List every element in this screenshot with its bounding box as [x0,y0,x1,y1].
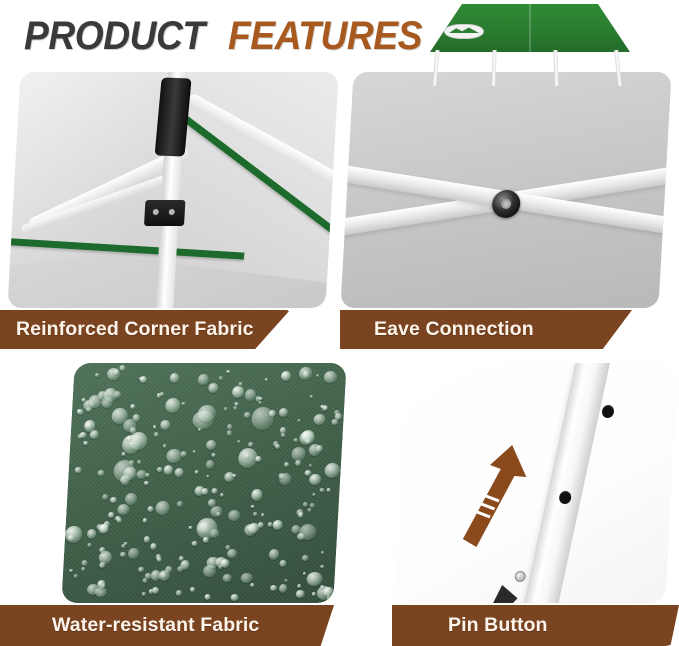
water-droplet [275,444,280,449]
water-droplet [259,397,263,401]
water-droplet [273,520,283,530]
water-droplet [95,373,100,377]
water-droplet [255,456,261,462]
pole-rivet-icon [514,571,526,582]
water-droplet [69,569,73,573]
water-droplet [232,386,245,398]
water-droplet [253,512,257,516]
water-droplet [119,365,126,371]
water-droplet [88,543,92,547]
water-droplet [261,513,265,516]
water-droplet [86,407,92,412]
water-droplet [323,587,334,597]
water-droplet [197,405,216,422]
water-droplet [302,555,309,561]
water-droplet [227,549,237,558]
water-droplet [175,468,184,477]
pin-hole-upper-icon [602,405,615,418]
water-droplet [178,556,183,561]
feature-image-water-resistant-fabric [61,363,346,603]
water-droplet [140,376,147,383]
water-droplet [123,467,137,480]
pole-foot-icon [491,585,518,603]
water-droplet [312,493,316,497]
water-droplet [177,566,184,573]
water-droplet [324,463,340,478]
water-droplet [153,432,159,438]
feature-label-text: Pin Button [448,614,548,637]
feature-image-eave-connection [340,72,671,308]
water-droplet [192,450,196,454]
feature-image-reinforced-corner-fabric [7,72,338,308]
water-droplet [166,449,182,462]
title-word-features: FEATURES [228,10,422,62]
water-droplet [220,493,224,497]
water-droplet [246,454,250,458]
water-droplet [204,594,211,601]
water-droplet [153,425,157,429]
water-droplet [81,560,87,566]
water-droplet [192,541,198,547]
water-droplet [157,467,163,472]
water-droplet [295,460,301,466]
water-droplet [74,574,78,578]
water-droplet [237,440,241,443]
water-droplet [194,470,199,474]
canopy-top-graphic [430,4,630,76]
water-droplet [150,543,157,550]
water-droplet [157,557,162,562]
water-droplet [120,552,126,557]
feature-label-text: Water-resistant Fabric [52,614,259,637]
water-droplet [165,398,181,413]
water-droplet [75,467,82,474]
water-droplet [145,573,152,580]
water-droplet [279,408,288,417]
water-droplet [279,427,286,434]
feature-image-pin-button [393,363,678,603]
water-droplet [291,447,306,461]
water-droplet [309,503,315,508]
water-droplet [270,585,277,591]
water-droplet [159,392,164,396]
water-droplet [189,587,195,592]
water-droplet [232,474,236,478]
water-droplet [227,424,233,430]
water-droplet [226,430,232,436]
water-droplet [251,489,263,501]
water-droplet [160,420,171,431]
water-droplet [146,473,149,477]
water-droplet [83,441,88,445]
water-droplet [313,414,325,425]
water-droplet [210,506,223,517]
water-droplet [284,462,289,467]
water-droplet [142,518,147,523]
canopy-leg-pole [522,363,613,603]
water-droplet [125,493,137,505]
water-droplet [129,460,134,464]
water-droplet [303,572,307,575]
water-droplet [285,579,288,582]
water-droplet [87,529,97,539]
water-droplet [144,481,149,485]
water-droplet [334,410,340,416]
water-droplet [251,505,255,509]
eave-hub-bolt-icon [491,190,521,218]
water-droplet [77,434,82,439]
water-droplet [103,388,117,402]
water-droplet [321,565,325,569]
water-droplet [316,445,323,452]
water-droplet [202,488,209,495]
water-droplet [323,406,327,410]
water-droplet [65,526,83,543]
water-droplet [327,488,331,492]
water-droplet [309,464,313,468]
water-droplet [212,453,216,456]
water-droplet [205,460,213,468]
water-droplet [268,549,279,560]
water-droplet [208,383,218,393]
water-droplet [143,536,149,543]
water-droplet [98,470,105,476]
water-droplet [311,592,315,596]
water-droplet [128,548,139,559]
feature-label-reinforced-corner-fabric: Reinforced Corner Fabric [0,310,290,349]
water-droplet [124,542,128,545]
water-droplet [259,401,262,404]
water-droplet [137,460,141,464]
water-droplet [81,567,85,571]
water-droplet [331,419,338,425]
feature-label-text: Reinforced Corner Fabric [16,318,254,341]
water-droplet [244,412,251,418]
water-droplet [297,584,301,588]
feature-label-eave-connection: Eave Connection [340,310,632,349]
water-droplet [176,590,182,596]
water-droplet [102,494,109,501]
water-droplet [218,376,223,380]
water-droplet [309,474,321,486]
canopy-roof-seam [529,4,531,52]
water-droplet [235,402,239,406]
water-droplet [181,451,188,457]
water-droplet [156,501,171,516]
water-droplet [203,537,209,543]
water-droplet [176,501,182,507]
water-droplet [130,404,136,410]
water-droplet [118,504,130,514]
height-adjust-arrow-icon [454,443,530,553]
water-droplet [315,374,319,378]
water-droplet [84,420,96,432]
water-droplet [77,409,84,415]
water-droplet [279,584,288,593]
water-droplet [238,382,243,386]
water-droplet [281,371,292,381]
water-droplet [205,440,216,450]
water-droplet [188,526,192,530]
water-droplet [228,510,241,521]
water-droplet [240,573,252,584]
water-droplet [142,592,146,596]
water-droplet [320,488,325,492]
water-droplet [147,506,154,512]
water-droplet [231,594,239,602]
water-droplet [182,402,186,405]
water-droplet [280,560,287,567]
water-droplet [164,465,174,475]
water-droplet [169,373,179,383]
water-droplet [303,502,308,507]
water-droplet [222,574,232,583]
water-droplet [248,442,253,447]
feature-label-water-resistant-fabric: Water-resistant Fabric [0,605,334,646]
water-droplet [244,524,257,536]
water-droplet [198,374,209,385]
black-corner-bracket-icon [144,200,185,226]
title-word-product: PRODUCT [24,10,205,62]
water-droplet [163,444,167,448]
water-droplet [226,370,230,374]
feature-label-pin-button: Pin Button [392,605,679,646]
water-droplet [269,410,276,417]
water-droplet [220,559,229,568]
water-droplet [224,407,228,411]
water-droplet [264,378,268,382]
water-droplet [310,395,313,398]
water-droplet [110,497,117,504]
water-droplet [233,406,238,411]
water-droplet [293,438,298,442]
water-droplet [206,475,209,478]
water-droplet [108,512,115,518]
water-droplet [132,414,140,422]
water-droplet [321,551,324,554]
water-droplet [307,508,311,512]
water-droplet [211,488,217,494]
water-droplet [203,565,216,577]
feature-label-text: Eave Connection [374,318,534,341]
water-droplet [198,428,201,431]
water-droplet [298,512,304,518]
water-droplet [295,590,305,599]
water-droplet [297,419,300,422]
water-droplet [138,567,144,573]
water-droplet [250,583,255,588]
water-droplet [323,371,337,383]
canopy-leg-3 [553,50,558,86]
